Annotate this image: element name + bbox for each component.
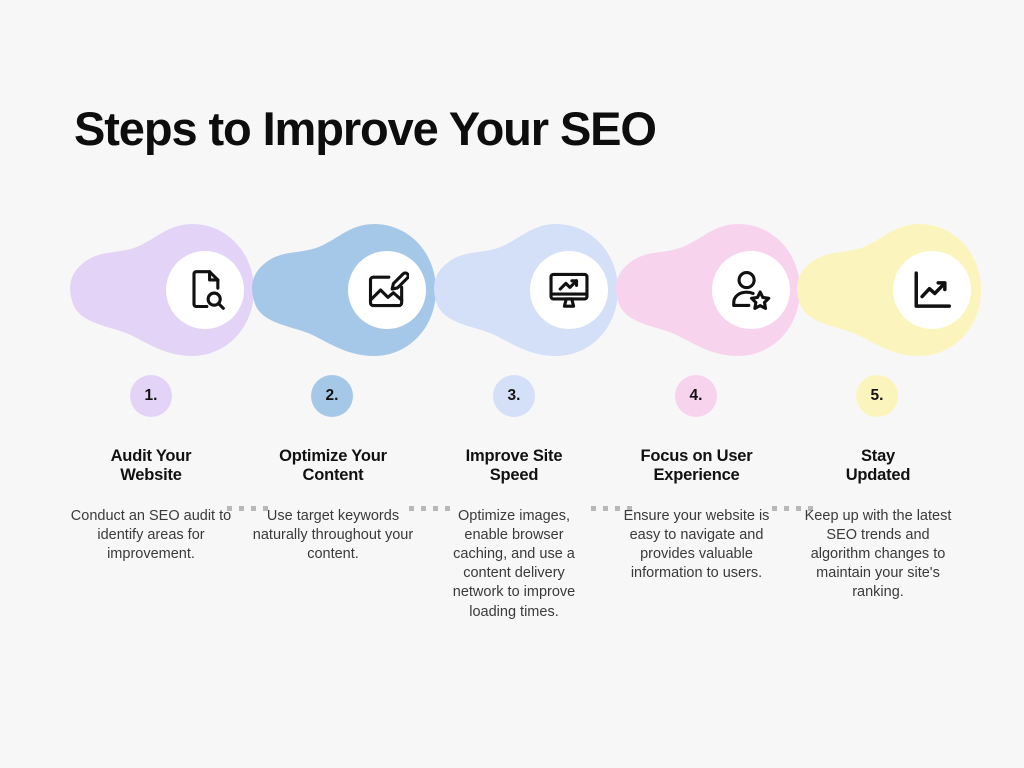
step-text-1: Audit Your Website Conduct an SEO audit … (66, 447, 236, 564)
step-heading-line2: Experience (615, 466, 778, 485)
step-heading-line2: Speed (437, 466, 591, 485)
step-text-4: Focus on User Experience Ensure your web… (615, 447, 778, 583)
step-heading-line2: Content (246, 466, 420, 485)
infographic-slide: Steps to Improve Your SEO (0, 0, 1024, 768)
step-heading-3: Improve Site Speed (437, 447, 591, 486)
connector-dot (239, 506, 244, 511)
step-number-badge-3: 3. (493, 375, 535, 417)
step-blob-4 (614, 222, 800, 358)
connector-dot (784, 506, 789, 511)
step-heading-1: Audit Your Website (66, 447, 236, 486)
step-icon-disc-1 (166, 251, 244, 329)
connector-dot (591, 506, 596, 511)
step-text-3: Improve Site Speed Optimize images, enab… (437, 447, 591, 622)
step-icon-disc-5 (893, 251, 971, 329)
step-icon-disc-3 (530, 251, 608, 329)
step-number-label: 4. (690, 387, 703, 405)
step-number-badge-1: 1. (130, 375, 172, 417)
image-edit-icon (365, 268, 409, 312)
step-heading-line1: Audit Your (66, 447, 236, 466)
connector-dot (603, 506, 608, 511)
step-heading-2: Optimize Your Content (246, 447, 420, 486)
step-text-2: Optimize Your Content Use target keyword… (246, 447, 420, 564)
step-icon-disc-2 (348, 251, 426, 329)
step-blob-1 (68, 222, 254, 358)
user-star-icon (729, 268, 773, 312)
step-description-1: Conduct an SEO audit to identify areas f… (66, 507, 236, 564)
step-blob-3 (432, 222, 618, 358)
step-heading-4: Focus on User Experience (615, 447, 778, 486)
step-number-badge-4: 4. (675, 375, 717, 417)
step-number-badge-5: 5. (856, 375, 898, 417)
step-description-2: Use target keywords naturally throughout… (246, 507, 420, 564)
step-number-label: 5. (871, 387, 884, 405)
step-number-badge-2: 2. (311, 375, 353, 417)
step-heading-line1: Focus on User (615, 447, 778, 466)
connector-dot (421, 506, 426, 511)
step-text-5: Stay Updated Keep up with the latest SEO… (797, 447, 959, 603)
step-blob-5 (795, 222, 981, 358)
step-heading-line2: Updated (797, 466, 959, 485)
steps-blob-row (0, 222, 1024, 358)
step-number-label: 3. (508, 387, 521, 405)
monitor-chart-icon (547, 268, 591, 312)
step-description-5: Keep up with the latest SEO trends and a… (797, 507, 959, 603)
step-heading-5: Stay Updated (797, 447, 959, 486)
step-number-label: 2. (326, 387, 339, 405)
document-search-icon (183, 268, 227, 312)
step-icon-disc-4 (712, 251, 790, 329)
step-number-label: 1. (145, 387, 158, 405)
step-description-3: Optimize images, enable browser caching,… (437, 507, 591, 622)
step-description-4: Ensure your website is easy to navigate … (615, 507, 778, 584)
step-blob-2 (250, 222, 436, 358)
step-heading-line1: Stay (797, 447, 959, 466)
step-heading-line1: Optimize Your (246, 447, 420, 466)
line-chart-icon (910, 268, 954, 312)
page-title: Steps to Improve Your SEO (74, 102, 656, 156)
step-heading-line1: Improve Site (437, 447, 591, 466)
step-heading-line2: Website (66, 466, 236, 485)
